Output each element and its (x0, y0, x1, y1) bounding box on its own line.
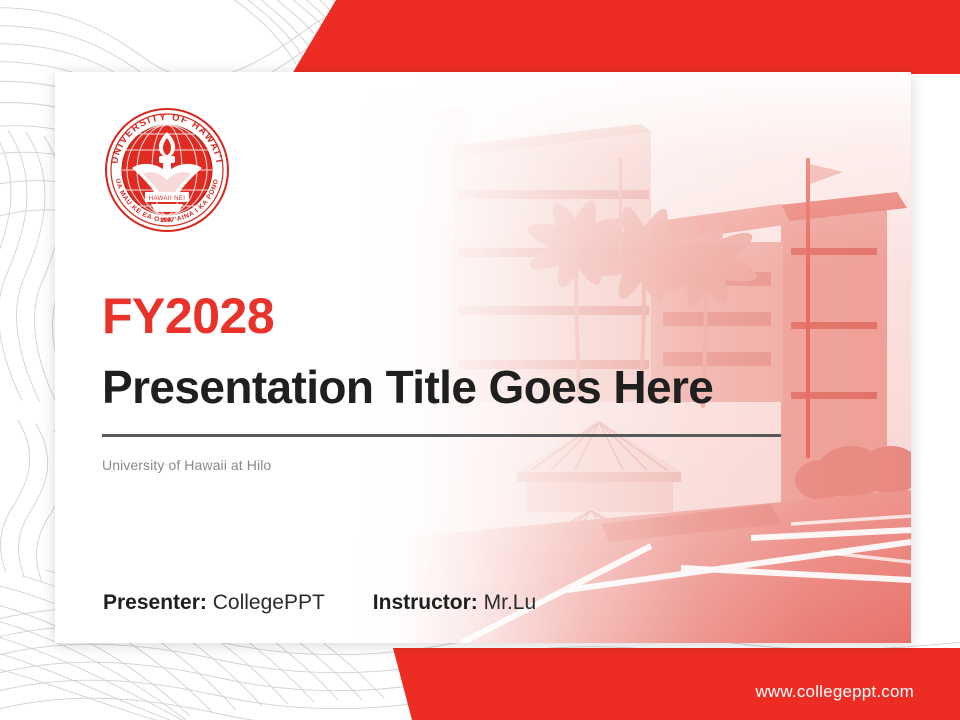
presentation-slide: HAWAII NEI UNIVERSITY OF HAWAI'I UA MAU … (0, 0, 960, 720)
title-divider-rule (102, 434, 781, 437)
fiscal-year-heading: FY2028 (102, 290, 802, 342)
footer-website-url[interactable]: www.collegeppt.com (755, 682, 914, 702)
svg-text:1907: 1907 (160, 217, 175, 224)
university-of-hawaii-seal-icon: HAWAII NEI UNIVERSITY OF HAWAI'I UA MAU … (101, 106, 233, 234)
page-title: Presentation Title Goes Here (102, 360, 802, 414)
title-block: FY2028 Presentation Title Goes Here Univ… (102, 290, 802, 473)
organization-name: University of Hawaii at Hilo (102, 457, 802, 473)
presenter-credit: Presenter: CollegePPT (103, 591, 325, 615)
presenter-label: Presenter: (103, 591, 207, 614)
slide-content-card: HAWAII NEI UNIVERSITY OF HAWAI'I UA MAU … (55, 72, 911, 643)
instructor-value: Mr.Lu (484, 591, 537, 614)
credits-row: Presenter: CollegePPT Instructor: Mr.Lu (103, 591, 536, 615)
instructor-credit: Instructor: Mr.Lu (373, 591, 536, 615)
svg-text:HAWAII NEI: HAWAII NEI (149, 196, 186, 202)
instructor-label: Instructor: (373, 591, 478, 614)
presenter-value: CollegePPT (213, 591, 325, 614)
